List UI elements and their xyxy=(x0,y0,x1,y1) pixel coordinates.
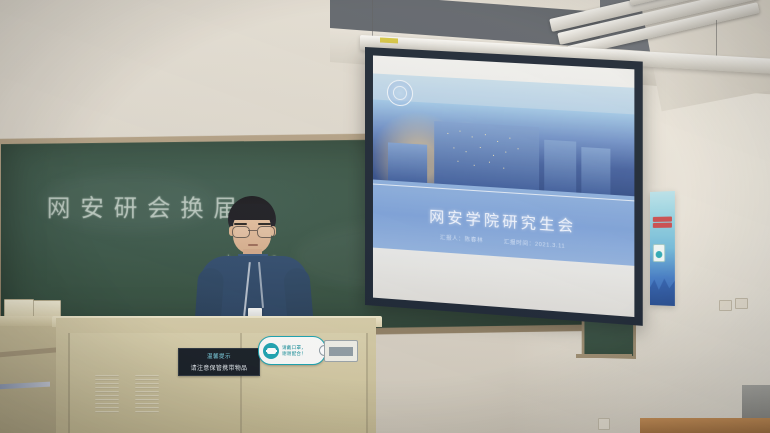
poster-headline xyxy=(653,216,672,230)
slide-presenter-label: 汇报人：陈春林 xyxy=(440,235,483,244)
podium-vent xyxy=(135,375,159,415)
screen-support-wire xyxy=(372,0,373,40)
slide-photo xyxy=(373,99,634,196)
housing-sticker xyxy=(380,37,398,43)
eyebrow xyxy=(234,223,247,225)
glasses-icon xyxy=(232,226,273,236)
mouth xyxy=(248,244,258,246)
projection-screen: 网安学院研究生会 汇报人：陈春林 汇报时间：2021.3.11 xyxy=(365,47,643,326)
gray-equipment-box xyxy=(742,385,770,418)
small-sign xyxy=(324,340,358,362)
notice-sign: 温馨提示 请注意保管携带物品 xyxy=(178,348,260,376)
hair-fringe xyxy=(229,204,275,220)
wall-outlet xyxy=(735,298,748,309)
face-mask-icon xyxy=(263,343,279,359)
mask-reminder-sticker: 请戴口罩， 谢谢配合！ xyxy=(258,336,326,365)
eyebrow xyxy=(258,223,271,225)
university-emblem-icon xyxy=(387,79,413,107)
screen-canvas: 网安学院研究生会 汇报人：陈春林 汇报时间：2021.3.11 xyxy=(373,55,634,317)
wall-poster xyxy=(650,191,675,306)
side-table xyxy=(0,326,64,433)
wall-outlet xyxy=(719,300,732,311)
chalk-tray xyxy=(576,354,632,358)
presentation-slide: 网安学院研究生会 汇报人：陈春林 汇报时间：2021.3.11 xyxy=(373,73,634,265)
poster-skyline xyxy=(650,273,675,306)
screen-support-wire xyxy=(716,20,717,60)
wall-outlet xyxy=(598,418,610,430)
notice-sign-body: 请注意保管携带物品 xyxy=(191,363,248,372)
podium-vent xyxy=(95,375,119,415)
poster-icon xyxy=(653,244,665,262)
mask-sticker-line2: 谢谢配合！ xyxy=(282,351,306,356)
classroom-photo: 网安研会换届 小 5 6 xyxy=(0,0,770,433)
slide-date-label: 汇报时间：2021.3.11 xyxy=(504,240,566,250)
notice-sign-heading: 温馨提示 xyxy=(207,352,231,360)
wooden-desk xyxy=(640,418,770,433)
